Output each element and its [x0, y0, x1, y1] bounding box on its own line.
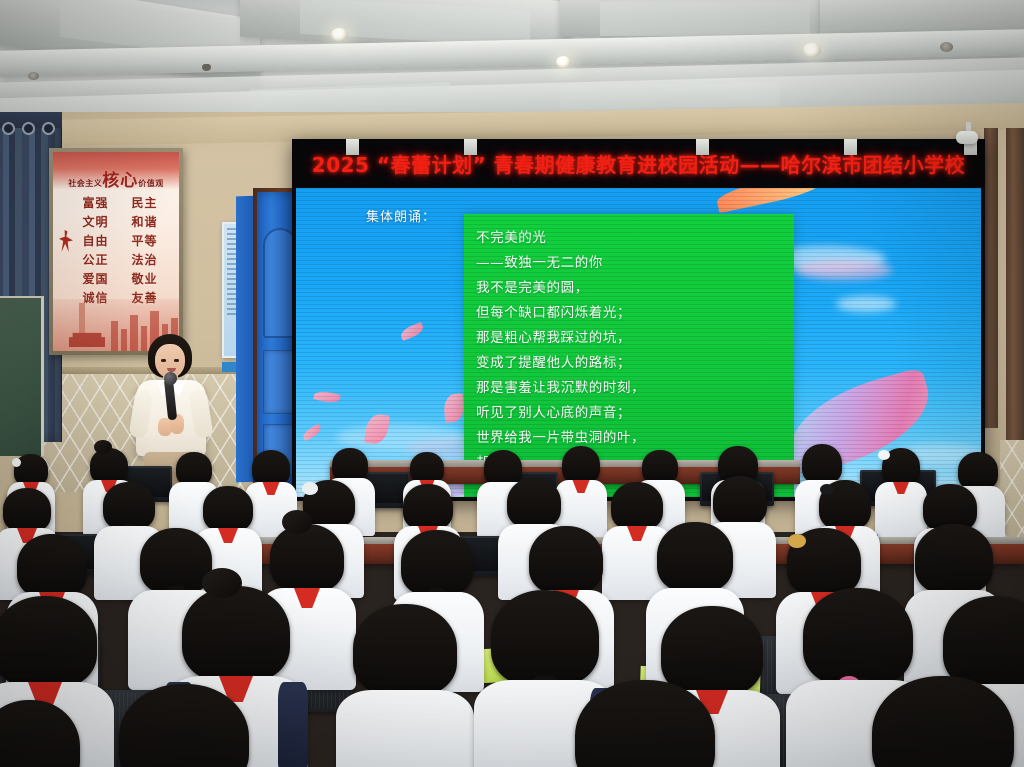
- student-hair: [0, 700, 80, 767]
- student: [858, 676, 1024, 767]
- student-hair: [575, 680, 715, 767]
- student-hair: [657, 522, 733, 592]
- student-hair: [0, 596, 97, 688]
- uniform-navy-panel: [278, 682, 308, 767]
- student-hair: [872, 676, 1014, 767]
- student: [104, 684, 264, 767]
- student-hair: [182, 586, 290, 682]
- hair-clip: [788, 534, 806, 548]
- student-uniform: [336, 690, 474, 767]
- student-hair: [403, 484, 453, 530]
- student-hair: [802, 444, 842, 484]
- student-hair: [252, 450, 290, 486]
- student-hair-bun: [202, 568, 242, 598]
- student-hair: [401, 530, 473, 596]
- student-hair: [90, 448, 128, 484]
- classroom-photo-scene: 社会主义核心价值观 富强 民主 文明 和谐 自由 平等 公正 法治 爱国 敬业 …: [0, 0, 1024, 767]
- student-hair: [332, 448, 368, 482]
- student: [340, 604, 470, 767]
- student-hair: [203, 486, 253, 532]
- student-hair: [119, 684, 249, 767]
- student-hair: [491, 590, 599, 686]
- hair-clip: [878, 450, 890, 460]
- student-hair: [915, 524, 993, 594]
- student-hair-bun: [94, 440, 112, 454]
- student: [560, 680, 730, 767]
- student-hair: [176, 452, 212, 486]
- student-hair: [3, 488, 51, 532]
- student-hair: [270, 524, 344, 592]
- hair-clip: [820, 484, 834, 495]
- student-hair: [353, 604, 457, 696]
- student-hair: [642, 450, 678, 484]
- student-hair: [17, 534, 87, 598]
- student-hair: [103, 482, 155, 530]
- hair-clip: [302, 482, 318, 495]
- student-hair: [803, 588, 913, 686]
- student-hair: [529, 526, 603, 594]
- student-hair-bun: [282, 510, 312, 534]
- student: [0, 700, 90, 767]
- student-hair: [507, 478, 561, 528]
- student-audience: [0, 0, 1024, 767]
- student-hair: [713, 476, 767, 526]
- hair-clip: [12, 458, 21, 467]
